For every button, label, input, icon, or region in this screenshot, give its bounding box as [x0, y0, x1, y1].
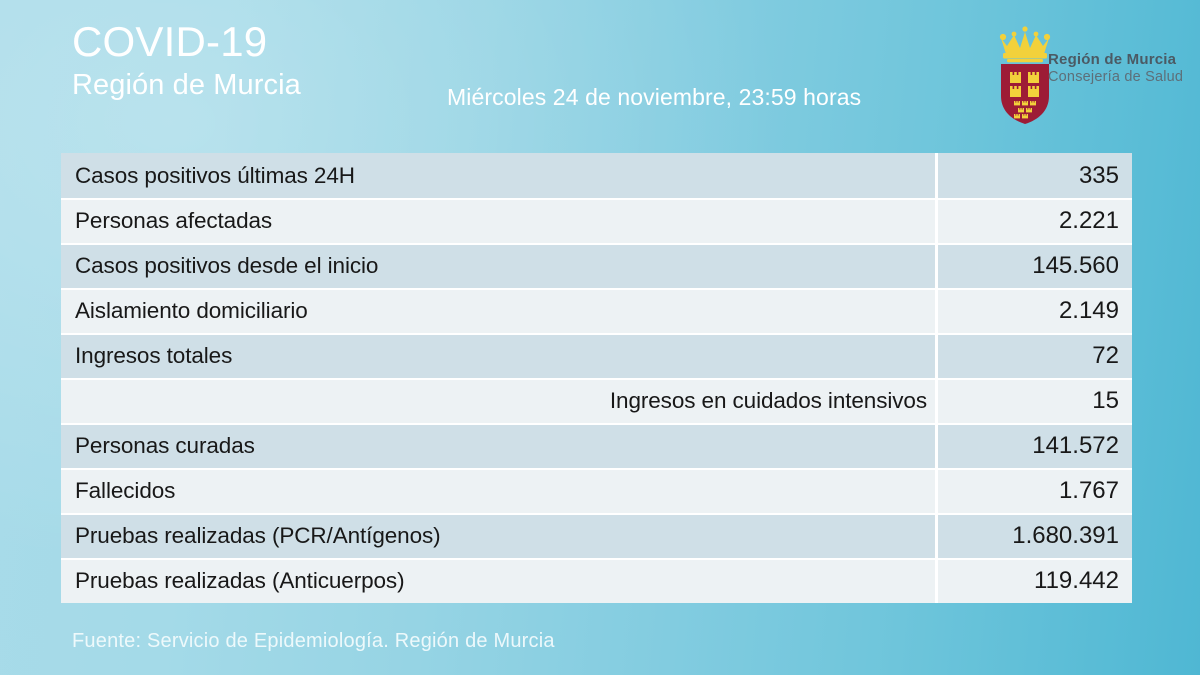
table-row: Personas curadas141.572 [61, 423, 1132, 468]
table-row: Pruebas realizadas (PCR/Antígenos)1.680.… [61, 513, 1132, 558]
table-row: Pruebas realizadas (Anticuerpos)119.442 [61, 558, 1132, 603]
row-value: 335 [938, 162, 1132, 190]
row-label: Casos positivos desde el inicio [61, 253, 935, 279]
title-block: COVID-19 Región de Murcia [72, 20, 301, 103]
slide-header: COVID-19 Región de Murcia Miércoles 24 d… [0, 0, 1200, 150]
row-label: Fallecidos [61, 478, 935, 504]
row-label: Personas afectadas [61, 208, 935, 234]
logo-text-block: Región de Murcia Consejería de Salud [1048, 52, 1183, 85]
row-label: Pruebas realizadas (PCR/Antígenos) [61, 523, 935, 549]
region-de-murcia-coat-of-arms-icon [994, 22, 1056, 126]
logo-line-consejeria: Consejería de Salud [1048, 69, 1183, 85]
table-row: Ingresos totales72 [61, 333, 1132, 378]
row-label: Ingresos en cuidados intensivos [61, 388, 935, 414]
slide-root: COVID-19 Región de Murcia Miércoles 24 d… [0, 0, 1200, 675]
row-value: 145.560 [938, 252, 1132, 280]
table-row: Fallecidos1.767 [61, 468, 1132, 513]
row-value: 15 [938, 387, 1132, 415]
row-value: 2.149 [938, 297, 1132, 325]
row-label: Pruebas realizadas (Anticuerpos) [61, 568, 935, 594]
table-row: Aislamiento domiciliario2.149 [61, 288, 1132, 333]
logo-line-region: Región de Murcia [1048, 52, 1183, 69]
row-value: 2.221 [938, 207, 1132, 235]
table-row: Personas afectadas2.221 [61, 198, 1132, 243]
row-value: 1.680.391 [938, 522, 1132, 550]
row-value: 141.572 [938, 432, 1132, 460]
row-value: 72 [938, 342, 1132, 370]
row-label: Aislamiento domiciliario [61, 298, 935, 324]
organization-logo: Región de Murcia Consejería de Salud [994, 22, 1194, 130]
row-value: 1.767 [938, 477, 1132, 505]
row-value: 119.442 [938, 567, 1132, 595]
report-datetime: Miércoles 24 de noviembre, 23:59 horas [447, 84, 861, 111]
table-row: Casos positivos últimas 24H335 [61, 153, 1132, 198]
table-row: Ingresos en cuidados intensivos15 [61, 378, 1132, 423]
table-row: Casos positivos desde el inicio145.560 [61, 243, 1132, 288]
page-subtitle: Región de Murcia [72, 68, 301, 103]
row-label: Ingresos totales [61, 343, 935, 369]
source-footnote: Fuente: Servicio de Epidemiología. Regió… [72, 630, 555, 653]
statistics-table: Casos positivos últimas 24H335Personas a… [61, 153, 1132, 603]
row-label: Personas curadas [61, 433, 935, 459]
page-title: COVID-19 [72, 20, 301, 64]
row-label: Casos positivos últimas 24H [61, 163, 935, 189]
